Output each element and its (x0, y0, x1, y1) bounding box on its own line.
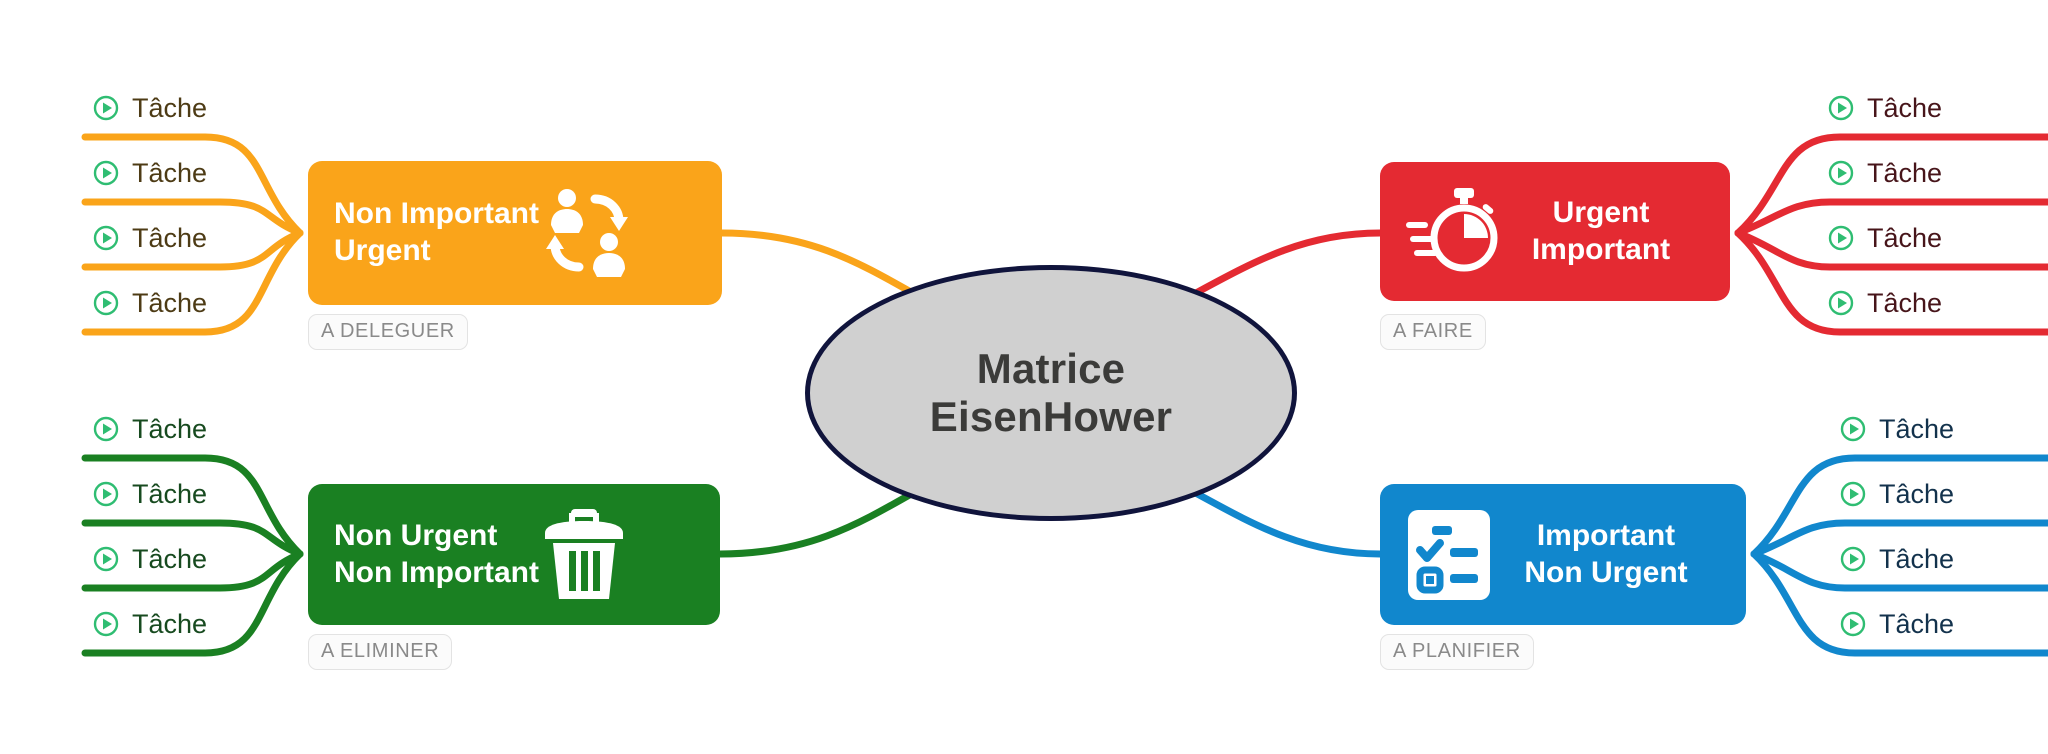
quadrant-line-1: Urgent (1553, 195, 1650, 232)
quadrant-line-2: Important (1532, 232, 1670, 269)
task-node[interactable]: Tâche (1840, 604, 1954, 644)
mindmap-canvas: Matrice EisenHower Non Important Urgent (0, 0, 2048, 754)
quadrant-important-non-urgent[interactable]: Important Non Urgent (1380, 484, 1746, 625)
task-node[interactable]: Tâche (93, 153, 207, 193)
quadrant-label-important-non-urgent: Important Non Urgent (1492, 518, 1720, 591)
task-label: Tâche (1879, 609, 1954, 640)
task-label: Tâche (1879, 479, 1954, 510)
play-circle-icon (1840, 546, 1866, 572)
quadrant-line-1: Non Urgent (334, 518, 539, 555)
task-node[interactable]: Tâche (1828, 153, 1942, 193)
task-node[interactable]: Tâche (93, 88, 207, 128)
play-circle-icon (93, 160, 119, 186)
task-label: Tâche (132, 414, 207, 445)
task-label: Tâche (1867, 93, 1942, 124)
play-circle-icon (93, 416, 119, 442)
task-label: Tâche (132, 479, 207, 510)
center-node[interactable]: Matrice EisenHower (805, 265, 1297, 521)
badge-a-eliminer[interactable]: A ELIMINER (308, 634, 452, 670)
quadrant-label-urgent-important: Urgent Important (1498, 195, 1704, 268)
task-label: Tâche (1867, 288, 1942, 319)
task-node[interactable]: Tâche (1840, 539, 1954, 579)
quadrant-label-non-important-urgent: Non Important Urgent (334, 196, 539, 269)
center-title-line-2: EisenHower (930, 393, 1172, 441)
play-circle-icon (1828, 160, 1854, 186)
task-node[interactable]: Tâche (1828, 218, 1942, 258)
badge-a-faire[interactable]: A FAIRE (1380, 314, 1486, 350)
quadrant-line-1: Important (1537, 518, 1675, 555)
play-circle-icon (1828, 290, 1854, 316)
task-label: Tâche (132, 544, 207, 575)
stopwatch-icon (1406, 186, 1498, 278)
play-circle-icon (93, 546, 119, 572)
quadrant-non-important-urgent[interactable]: Non Important Urgent (308, 161, 722, 305)
task-label: Tâche (132, 93, 207, 124)
task-node[interactable]: Tâche (1828, 283, 1942, 323)
task-label: Tâche (132, 158, 207, 189)
task-node[interactable]: Tâche (1840, 474, 1954, 514)
quadrant-urgent-important[interactable]: Urgent Important (1380, 162, 1730, 301)
play-circle-icon (1828, 225, 1854, 251)
quadrant-line-2: Urgent (334, 233, 539, 270)
play-circle-icon (1828, 95, 1854, 121)
play-circle-icon (93, 611, 119, 637)
task-label: Tâche (1879, 544, 1954, 575)
quadrant-line-2: Non Important (334, 555, 539, 592)
task-node[interactable]: Tâche (93, 283, 207, 323)
checklist-clipboard-icon (1406, 508, 1492, 602)
play-circle-icon (1840, 481, 1866, 507)
task-label: Tâche (1867, 223, 1942, 254)
task-node[interactable]: Tâche (93, 218, 207, 258)
task-label: Tâche (132, 223, 207, 254)
task-label: Tâche (1867, 158, 1942, 189)
center-title-line-1: Matrice (977, 345, 1125, 393)
task-label: Tâche (1879, 414, 1954, 445)
task-node[interactable]: Tâche (1828, 88, 1942, 128)
play-circle-icon (93, 95, 119, 121)
badge-a-planifier[interactable]: A PLANIFIER (1380, 634, 1534, 670)
play-circle-icon (93, 290, 119, 316)
task-node[interactable]: Tâche (93, 409, 207, 449)
play-circle-icon (1840, 611, 1866, 637)
task-label: Tâche (132, 609, 207, 640)
play-circle-icon (93, 225, 119, 251)
quadrant-non-urgent-non-important[interactable]: Non Urgent Non Important (308, 484, 720, 625)
quadrant-line-1: Non Important (334, 196, 539, 233)
quadrant-line-2: Non Urgent (1524, 555, 1687, 592)
quadrant-label-non-urgent-non-important: Non Urgent Non Important (334, 518, 539, 591)
task-node[interactable]: Tâche (93, 474, 207, 514)
play-circle-icon (1840, 416, 1866, 442)
task-node[interactable]: Tâche (93, 604, 207, 644)
task-node[interactable]: Tâche (1840, 409, 1954, 449)
delegate-people-swap-icon (539, 185, 635, 281)
trash-can-icon (539, 507, 629, 603)
task-label: Tâche (132, 288, 207, 319)
badge-a-deleguer[interactable]: A DELEGUER (308, 314, 468, 350)
play-circle-icon (93, 481, 119, 507)
task-node[interactable]: Tâche (93, 539, 207, 579)
